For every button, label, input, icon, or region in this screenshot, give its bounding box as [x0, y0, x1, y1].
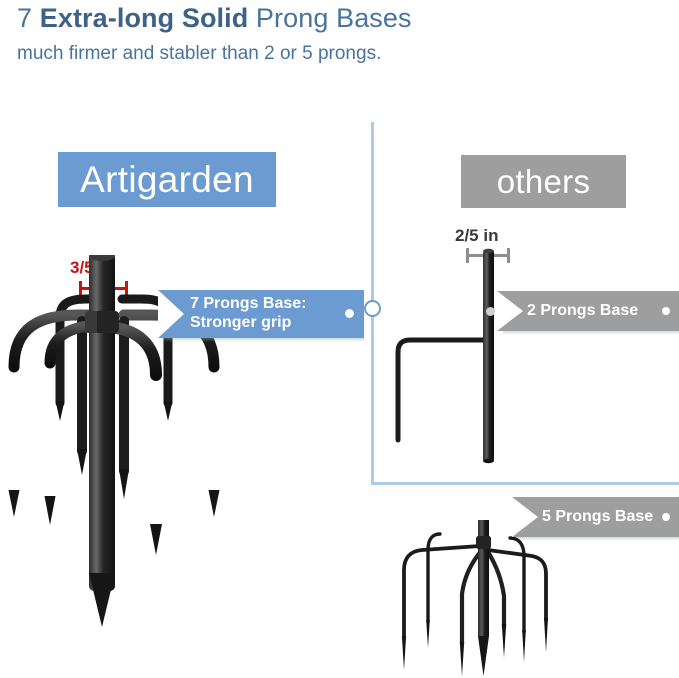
callout-5-prong: 5 Prongs Base [512, 497, 679, 537]
callout-7-prong: 7 Prongs Base: Stronger grip [158, 290, 364, 338]
divider-bullet-icon [366, 302, 379, 315]
callout-2-prong: 2 Prongs Base [497, 291, 679, 331]
callout-arrow-icon [497, 291, 523, 331]
callout-arrow-icon [512, 497, 538, 537]
others-dimension-label: 2/5 in [455, 226, 498, 246]
product-image-2-prong [388, 248, 528, 478]
others-badge: others [461, 155, 626, 208]
brand-badge-label: Artigarden [80, 159, 254, 201]
callout-5-prong-label: 5 Prongs Base [542, 508, 653, 527]
brand-badge: Artigarden [58, 152, 276, 207]
page-subtitle: much firmer and stabler than 2 or 5 pron… [17, 42, 381, 66]
page-title-emphasis: Extra-long Solid [40, 3, 249, 33]
callout-2-prong-lead-dot-icon [486, 307, 495, 316]
callout-bullet-icon [662, 513, 670, 521]
others-badge-label: others [497, 163, 591, 201]
callout-2-prong-label: 2 Prongs Base [527, 302, 638, 321]
page-title-suffix: Prong Bases [248, 3, 411, 33]
page-title-prefix: 7 [17, 3, 40, 33]
callout-bullet-icon [345, 309, 354, 318]
product-image-5-prong [392, 520, 592, 678]
callout-7-prong-label: 7 Prongs Base: Stronger grip [190, 295, 306, 333]
horizontal-divider [371, 482, 679, 485]
callout-bullet-icon [662, 307, 670, 315]
infographic-canvas: 7 Extra-long Solid Prong Bases much firm… [0, 0, 679, 678]
callout-arrow-icon [158, 290, 184, 338]
page-title: 7 Extra-long Solid Prong Bases [17, 2, 412, 34]
